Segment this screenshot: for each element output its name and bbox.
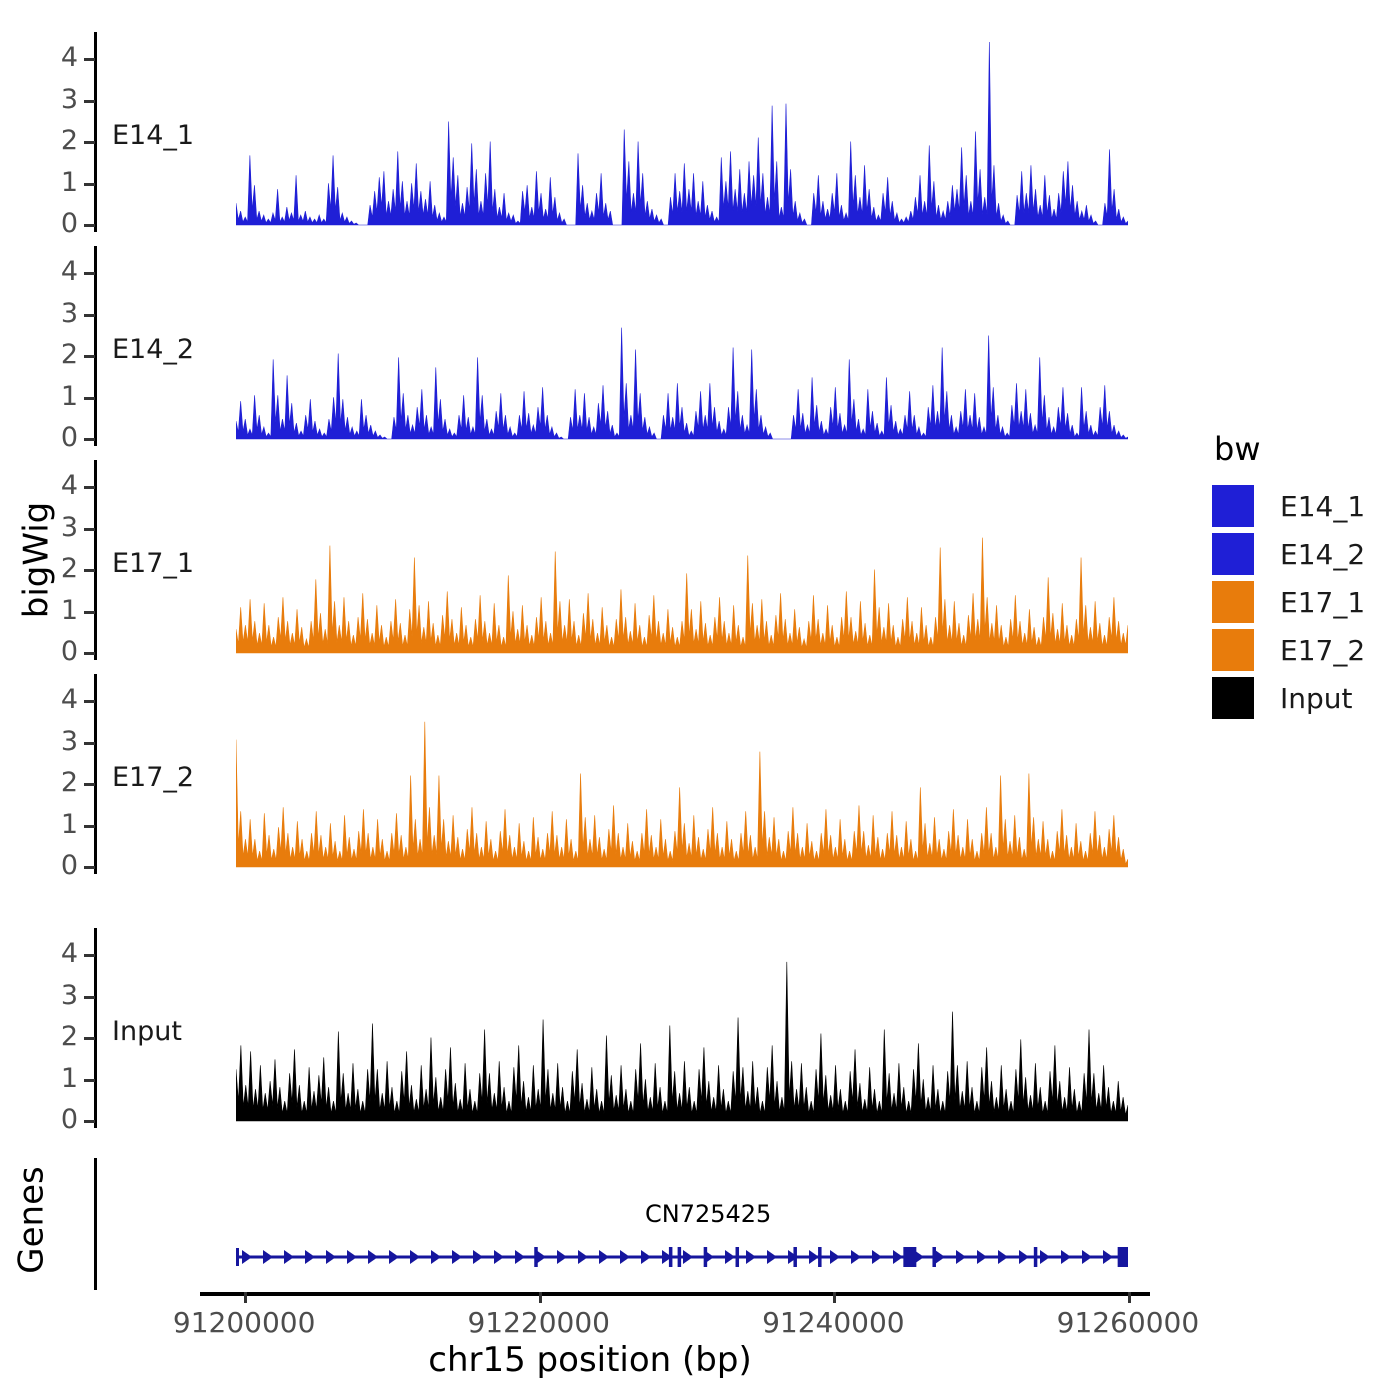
legend-item-e17_1[interactable]: E17_1 — [1212, 578, 1392, 626]
x-tick-label: 91240000 — [743, 1306, 923, 1339]
y-tick — [84, 355, 95, 358]
wiggle-track-input[interactable] — [236, 928, 1128, 1124]
x-tick — [833, 1292, 836, 1303]
y-tick-label: 3 — [32, 514, 78, 541]
y-tick-label: 2 — [32, 341, 78, 368]
y-axis-line-e17_2 — [94, 674, 97, 874]
legend-swatch — [1212, 581, 1254, 623]
legend-swatch — [1212, 533, 1254, 575]
gene-label: CN725425 — [645, 1200, 771, 1228]
y-tick — [84, 141, 95, 144]
wiggle-track-e17_1[interactable] — [236, 460, 1128, 656]
y-axis-line-e14_1 — [94, 32, 97, 232]
y-tick-label: 4 — [32, 940, 78, 967]
track-label-e14_2: E14_2 — [112, 334, 194, 365]
y-tick-label: 0 — [32, 210, 78, 237]
y-tick-label: 2 — [32, 1023, 78, 1050]
y-tick-label: 4 — [32, 44, 78, 71]
y-tick — [84, 397, 95, 400]
x-tick-label: 91220000 — [449, 1306, 629, 1339]
y-tick — [84, 58, 95, 61]
y-tick — [84, 272, 95, 275]
legend-item-e14_2[interactable]: E14_2 — [1212, 530, 1392, 578]
y-tick-label: 1 — [32, 597, 78, 624]
y-tick-label: 1 — [32, 383, 78, 410]
y-tick-label: 3 — [32, 728, 78, 755]
legend-item-input[interactable]: Input — [1212, 674, 1392, 722]
legend-item-e14_1[interactable]: E14_1 — [1212, 482, 1392, 530]
y-tick — [84, 100, 95, 103]
y-tick-label: 0 — [32, 852, 78, 879]
y-tick — [84, 1079, 95, 1082]
legend-label: E17_1 — [1280, 586, 1365, 619]
legend-swatch — [1212, 485, 1254, 527]
legend-item-e17_2[interactable]: E17_2 — [1212, 626, 1392, 674]
y-tick — [84, 528, 95, 531]
x-axis-line — [200, 1292, 1150, 1296]
wiggle-track-e14_1[interactable] — [236, 32, 1128, 228]
legend-label: E14_1 — [1280, 490, 1365, 523]
y-tick-label: 4 — [32, 686, 78, 713]
genes-axis-title: Genes — [2, 1150, 62, 1290]
y-tick — [84, 783, 95, 786]
legend-swatch — [1212, 677, 1254, 719]
genes-axis-line — [94, 1158, 97, 1290]
x-axis-title: chr15 position (bp) — [0, 1340, 1180, 1380]
y-tick — [84, 1120, 95, 1123]
gene-model[interactable] — [236, 1240, 1128, 1274]
track-label-e17_1: E17_1 — [112, 548, 194, 579]
x-tick-label: 91260000 — [1038, 1306, 1218, 1339]
y-tick-label: 4 — [32, 472, 78, 499]
genome-browser-plot: bigWig Genes 01234E14_101234E14_201234E1… — [0, 0, 1400, 1400]
y-tick — [84, 700, 95, 703]
y-tick-label: 3 — [32, 300, 78, 327]
legend-items: E14_1E14_2E17_1E17_2Input — [1212, 482, 1392, 722]
y-tick-label: 3 — [32, 982, 78, 1009]
wiggle-track-e14_2[interactable] — [236, 246, 1128, 442]
track-label-input: Input — [112, 1016, 182, 1047]
y-tick-label: 1 — [32, 169, 78, 196]
x-tick — [244, 1292, 247, 1303]
y-tick-label: 0 — [32, 1106, 78, 1133]
y-tick — [84, 742, 95, 745]
y-tick — [84, 825, 95, 828]
y-tick-label: 1 — [32, 1065, 78, 1092]
track-label-e14_1: E14_1 — [112, 120, 194, 151]
y-axis-line-e14_2 — [94, 246, 97, 446]
y-tick — [84, 996, 95, 999]
legend-label: E17_2 — [1280, 634, 1365, 667]
y-tick-label: 2 — [32, 769, 78, 796]
y-tick — [84, 866, 95, 869]
y-tick — [84, 611, 95, 614]
y-tick — [84, 224, 95, 227]
y-tick-label: 0 — [32, 424, 78, 451]
y-tick-label: 1 — [32, 811, 78, 838]
wiggle-track-e17_2[interactable] — [236, 674, 1128, 870]
y-tick — [84, 314, 95, 317]
x-tick-label: 91200000 — [154, 1306, 334, 1339]
track-label-e17_2: E17_2 — [112, 762, 194, 793]
y-tick-label: 2 — [32, 127, 78, 154]
x-tick — [539, 1292, 542, 1303]
legend-label: Input — [1280, 682, 1353, 715]
y-tick — [84, 954, 95, 957]
legend-title: bw — [1214, 430, 1392, 468]
legend: bw E14_1E14_2E17_1E17_2Input — [1212, 430, 1392, 722]
x-tick — [1128, 1292, 1131, 1303]
y-tick — [84, 438, 95, 441]
y-tick — [84, 652, 95, 655]
y-tick-label: 2 — [32, 555, 78, 582]
y-axis-line-input — [94, 928, 97, 1128]
y-tick-label: 3 — [32, 86, 78, 113]
y-tick — [84, 183, 95, 186]
legend-label: E14_2 — [1280, 538, 1365, 571]
y-tick — [84, 486, 95, 489]
y-tick-label: 0 — [32, 638, 78, 665]
y-tick — [84, 1037, 95, 1040]
y-tick — [84, 569, 95, 572]
y-tick-label: 4 — [32, 258, 78, 285]
y-axis-line-e17_1 — [94, 460, 97, 660]
legend-swatch — [1212, 629, 1254, 671]
